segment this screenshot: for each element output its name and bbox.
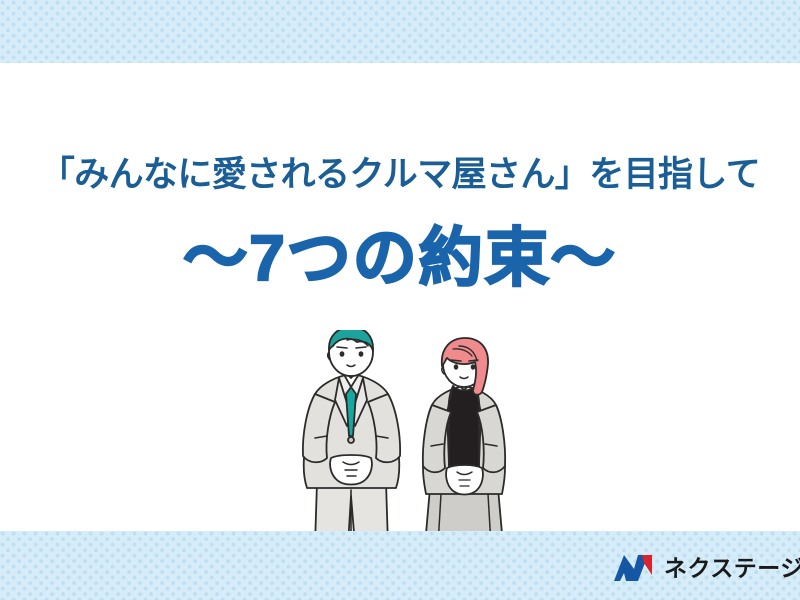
nextage-n-mark-icon [612,553,656,583]
headline-secondary: 〜7つの約束〜 [0,215,800,301]
staff-illustration [285,330,535,545]
male-staff-figure [303,330,400,545]
brand-logo: ネクステージ [612,551,780,585]
staff-illustration-svg [285,330,535,545]
promotional-slide: 「みんなに愛されるクルマ屋さん」を目指して 〜7つの約束〜 [0,0,800,600]
brand-wordmark: ネクステージ [664,557,800,580]
top-dot-pattern-band [0,0,800,63]
headline-primary: 「みんなに愛されるクルマ屋さん」を目指して [0,152,800,198]
female-staff-figure [423,338,505,545]
